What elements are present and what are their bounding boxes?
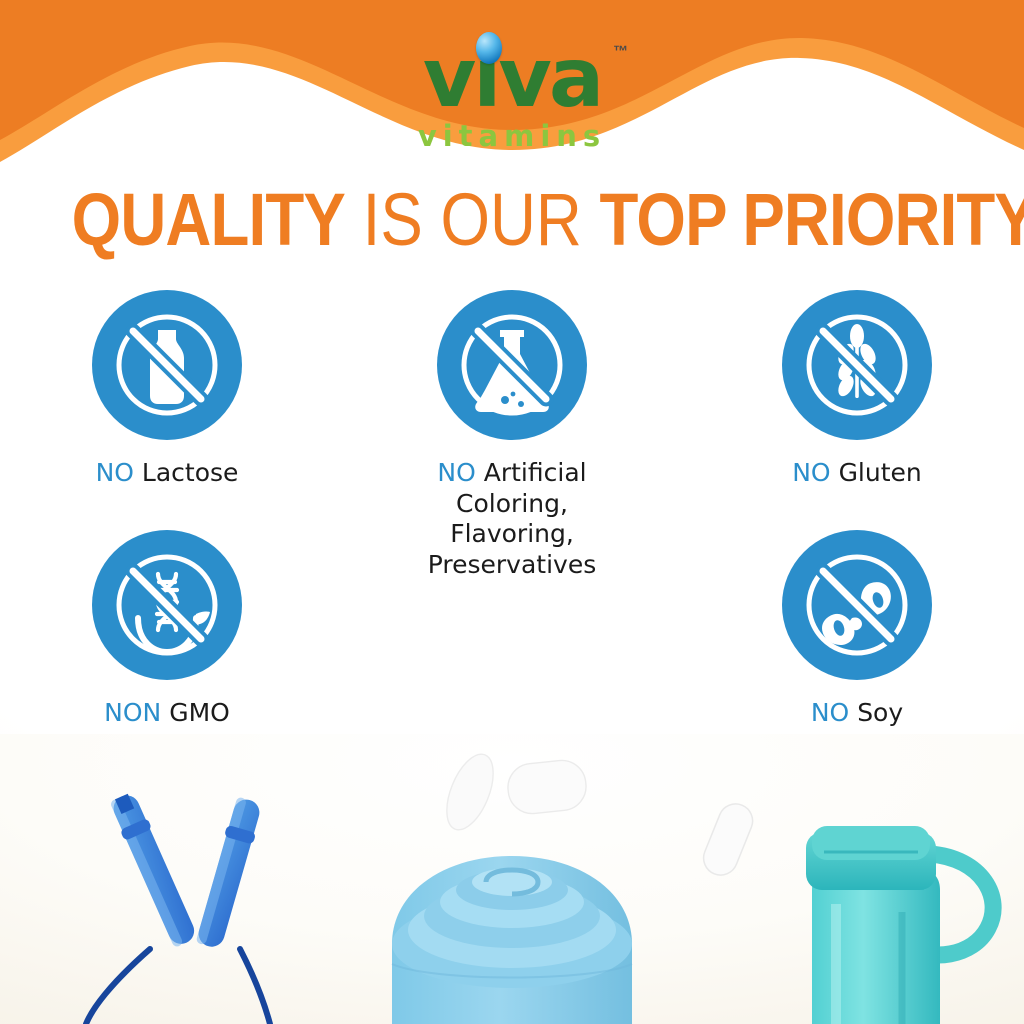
- no-flask-icon: [437, 290, 587, 440]
- trademark-symbol: ™: [613, 44, 628, 59]
- badge-label-gmo: NON GMO: [17, 698, 317, 729]
- badge-artificial: NO Artificial Coloring, Flavoring, Prese…: [362, 290, 662, 580]
- no-milk-bottle-icon: [92, 290, 242, 440]
- no-gmo-dna-hand-icon: [92, 530, 242, 680]
- badge-soy: NO Soy: [707, 530, 1007, 729]
- badge-prefix: NO: [437, 458, 475, 487]
- badge-gluten: NO Gluten: [707, 290, 1007, 489]
- badge-label-lactose: NO Lactose: [17, 458, 317, 489]
- brand-logo: viva ™ vitamins: [0, 38, 1024, 151]
- blue-jump-rope: [86, 790, 270, 1024]
- badge-label-gluten: NO Gluten: [707, 458, 1007, 489]
- benefits-grid: NO Lactose: [0, 285, 1024, 755]
- badge-text-line-2: Coloring,: [456, 489, 568, 518]
- page-title: QUALITY IS OUR TOP PRIORITY: [72, 183, 953, 257]
- logo-wordmark: viva ™ vitamins: [418, 38, 606, 151]
- logo-brand-name: viva: [418, 38, 606, 120]
- rolled-blue-yoga-mat: [392, 856, 632, 1024]
- badge-label-artificial: NO Artificial Coloring, Flavoring, Prese…: [362, 458, 662, 580]
- blue-sphere-icon: [476, 32, 502, 64]
- badge-prefix: NO: [792, 458, 830, 487]
- headline-part-1: QUALITY: [72, 178, 345, 261]
- badge-prefix: NON: [104, 698, 161, 727]
- badge-prefix: NO: [811, 698, 849, 727]
- promo-graphic: viva ™ vitamins QUALITY IS OUR TOP PRIOR…: [0, 0, 1024, 1024]
- badge-text-line-1: Artificial: [484, 458, 587, 487]
- headline-part-3: TOP PRIORITY: [600, 178, 1024, 261]
- badge-text-line-1: Soy: [857, 698, 903, 727]
- badge-text-line-1: Lactose: [142, 458, 239, 487]
- badge-text-line-1: GMO: [169, 698, 230, 727]
- product-photo-scene: [0, 734, 1024, 1024]
- white-tablet-pill: [506, 758, 589, 816]
- teal-water-bottle: [806, 826, 993, 1024]
- badge-lactose: NO Lactose: [17, 290, 317, 489]
- badge-text-line-3: Flavoring,: [450, 519, 574, 548]
- badge-text-line-4: Preservatives: [428, 550, 597, 579]
- no-wheat-icon: [782, 290, 932, 440]
- badge-label-soy: NO Soy: [707, 698, 1007, 729]
- badge-text-line-1: Gluten: [839, 458, 922, 487]
- badge-prefix: NO: [96, 458, 134, 487]
- no-soy-icon: [782, 530, 932, 680]
- logo-tagline: vitamins: [418, 122, 606, 151]
- badge-gmo: NON GMO: [17, 530, 317, 729]
- headline-part-2: IS OUR: [363, 178, 582, 261]
